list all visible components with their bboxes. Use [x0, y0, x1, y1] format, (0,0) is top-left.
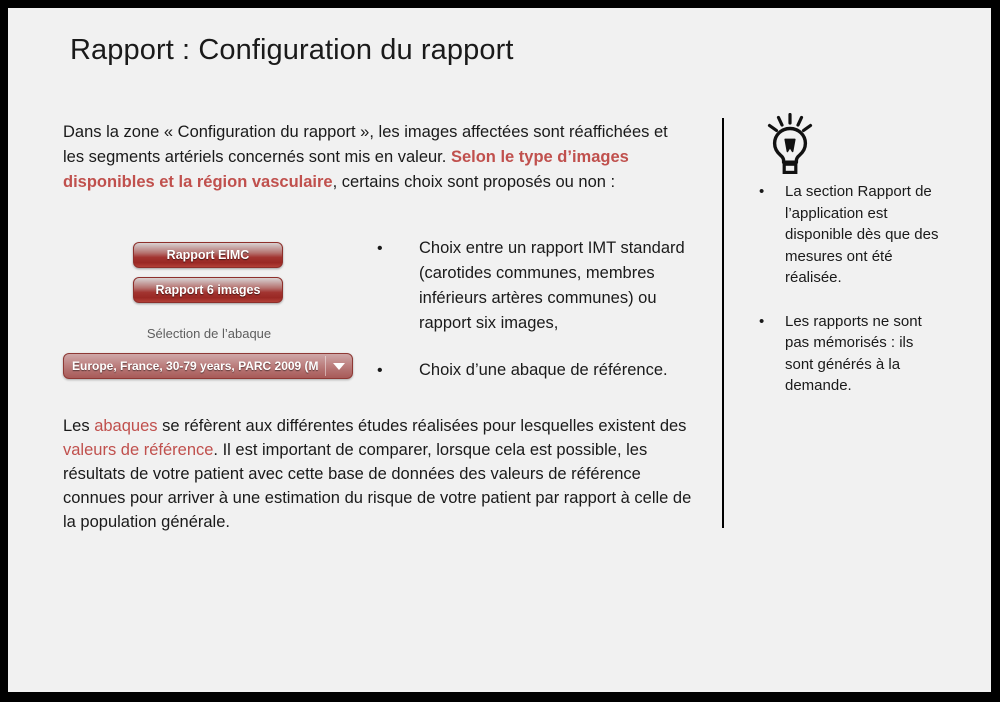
conclusion-accent-abaques: abaques [94, 417, 157, 435]
list-item: • Choix d’une abaque de référence. [371, 358, 701, 383]
slide-frame: Rapport : Configuration du rapport Dans … [0, 0, 1000, 702]
list-item: • Choix entre un rapport IMT standard (c… [371, 236, 701, 336]
list-item-label: Les rapports ne sont pas mémorisés : ils… [785, 313, 922, 395]
list-item-label: La section Rapport de l’application est … [785, 183, 938, 286]
rapport-eimc-button[interactable]: Rapport EIMC [133, 242, 283, 268]
conclusion-text-part-2: se réfèrent aux différentes études réali… [158, 417, 687, 435]
bullet-glyph: • [377, 358, 383, 383]
bullet-glyph: • [377, 236, 383, 261]
chevron-down-icon[interactable] [333, 363, 345, 370]
rapport-6-images-button[interactable]: Rapport 6 images [133, 277, 283, 303]
tip-list: • La section Rapport de l’application es… [753, 181, 943, 419]
abaque-selection-label: Sélection de l’abaque [63, 326, 355, 341]
bullet-glyph: • [759, 181, 764, 203]
abaque-select-dropdown[interactable]: Europe, France, 30-79 years, PARC 2009 (… [63, 353, 353, 379]
conclusion-paragraph: Les abaques se réfèrent aux différentes … [63, 414, 703, 534]
list-item-label: Choix entre un rapport IMT standard (car… [419, 239, 685, 332]
dropdown-divider [325, 356, 326, 376]
lightbulb-icon [763, 113, 817, 175]
list-item: • La section Rapport de l’application es… [753, 181, 943, 289]
app-widget-mock: Rapport EIMC Rapport 6 images Sélection … [63, 236, 355, 381]
bullet-glyph: • [759, 311, 764, 333]
conclusion-accent-valeurs: valeurs de référence [63, 441, 213, 459]
column-divider [722, 118, 724, 528]
conclusion-text-part-1: Les [63, 417, 94, 435]
abaque-select-value: Europe, France, 30-79 years, PARC 2009 (… [72, 354, 318, 378]
intro-paragraph: Dans la zone « Configuration du rapport … [63, 120, 688, 195]
list-item: • Les rapports ne sont pas mémorisés : i… [753, 311, 943, 397]
slide-canvas: Rapport : Configuration du rapport Dans … [8, 8, 991, 692]
choices-list: • Choix entre un rapport IMT standard (c… [371, 236, 701, 405]
list-item-label: Choix d’une abaque de référence. [419, 361, 668, 379]
intro-text-part-2: , certains choix sont proposés ou non : [333, 173, 616, 191]
page-title: Rapport : Configuration du rapport [70, 31, 514, 69]
